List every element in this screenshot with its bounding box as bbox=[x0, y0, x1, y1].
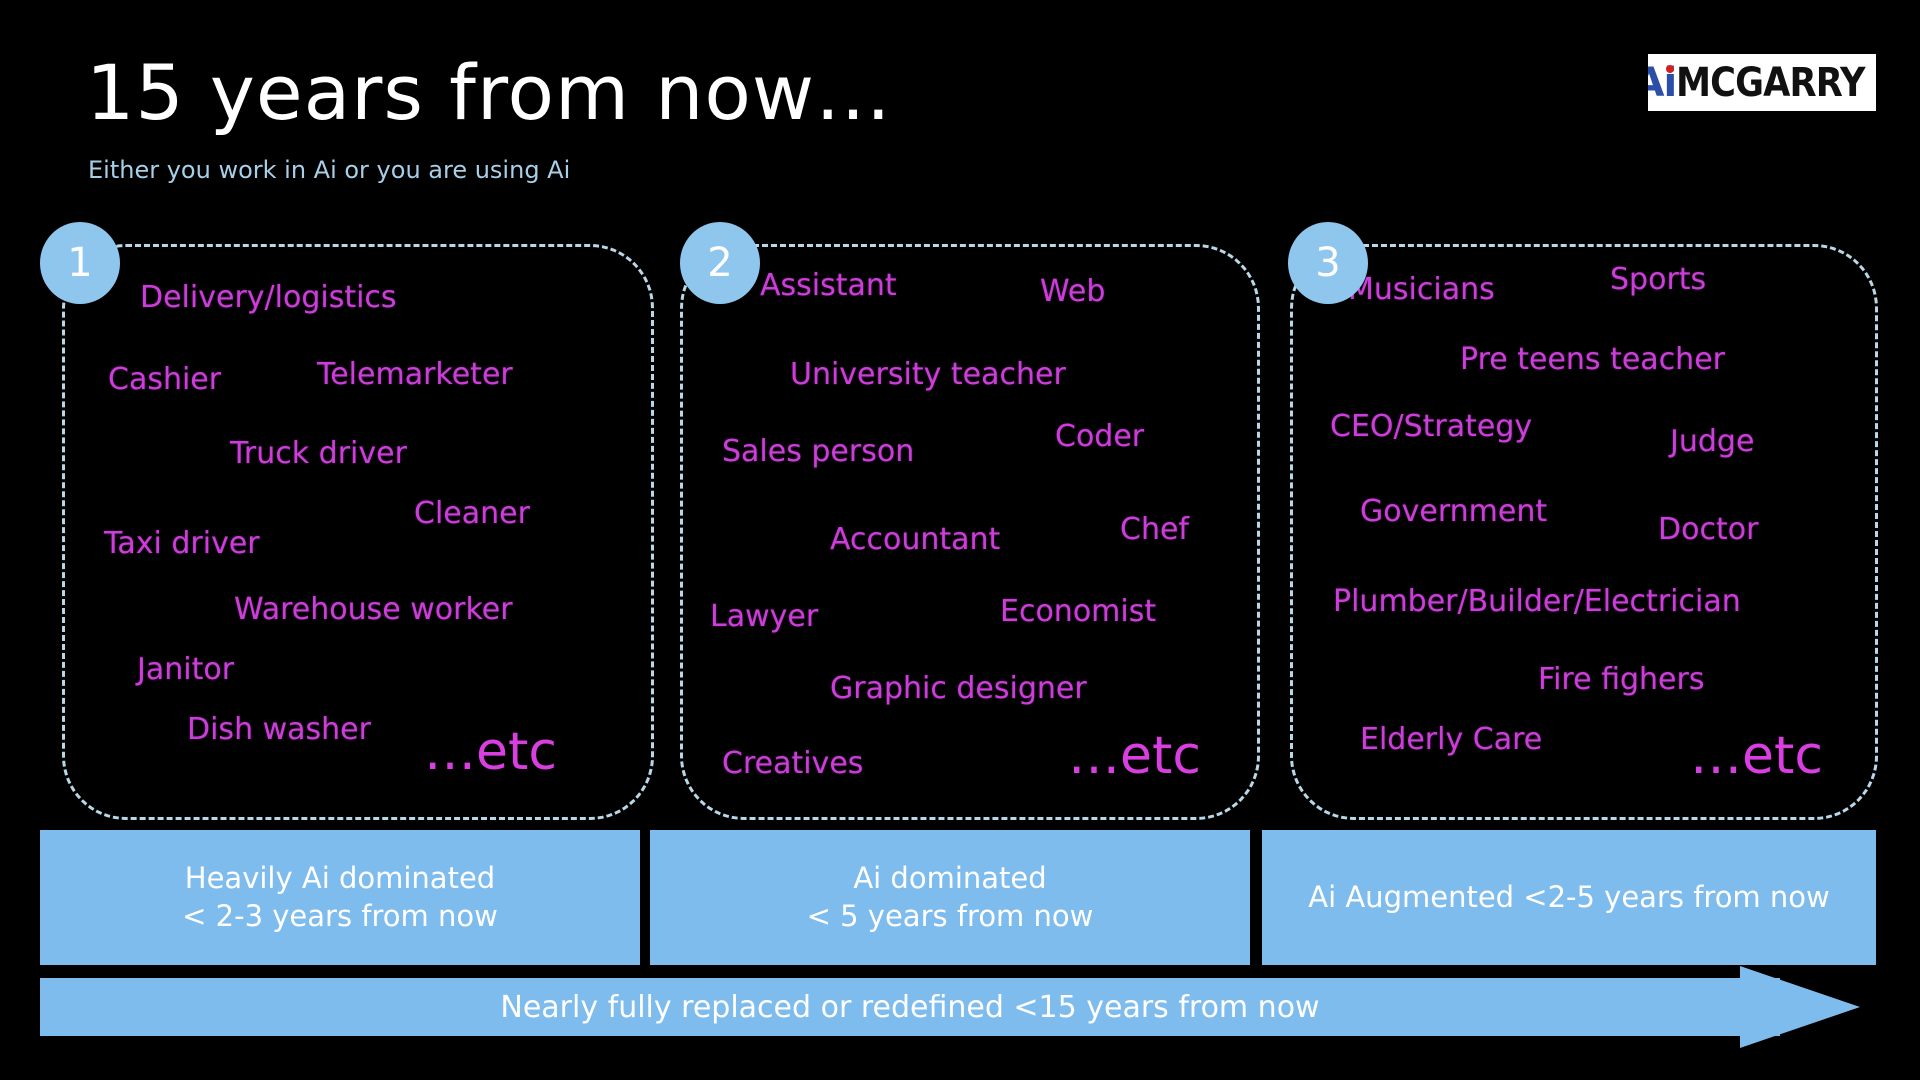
job-label: Cleaner bbox=[414, 496, 530, 531]
job-label: Pre teens teacher bbox=[1460, 342, 1725, 377]
job-label: Taxi driver bbox=[104, 526, 260, 561]
job-label: Doctor bbox=[1658, 512, 1758, 547]
job-label: University teacher bbox=[790, 357, 1066, 392]
phase-bar-1-label: Heavily Ai dominated < 2-3 years from no… bbox=[182, 860, 498, 934]
page-subtitle: Either you work in Ai or you are using A… bbox=[88, 156, 570, 184]
job-label: Government bbox=[1360, 494, 1547, 529]
job-label: CEO/Strategy bbox=[1330, 409, 1532, 444]
job-label: Musicians bbox=[1348, 272, 1495, 307]
category-badge-3: 3 bbox=[1288, 222, 1368, 304]
category-badge-2: 2 bbox=[680, 222, 760, 304]
timeline-arrow: Nearly fully replaced or redefined <15 y… bbox=[40, 978, 1880, 1060]
phase-bar-1: Heavily Ai dominated < 2-3 years from no… bbox=[40, 830, 640, 965]
logo-ai-mark: Ai bbox=[1648, 63, 1676, 103]
job-label: Sports bbox=[1610, 262, 1706, 297]
job-label: Telemarketer bbox=[317, 357, 513, 392]
job-label: Elderly Care bbox=[1360, 722, 1542, 757]
job-label: Truck driver bbox=[230, 436, 407, 471]
logo-red-dot-icon bbox=[1666, 65, 1674, 73]
slide-root: 15 years from now… Either you work in Ai… bbox=[0, 0, 1920, 1080]
job-label: Warehouse worker bbox=[234, 592, 513, 627]
job-label: Cashier bbox=[108, 362, 221, 397]
phase-bar-2: Ai dominated < 5 years from now bbox=[650, 830, 1250, 965]
job-label: Creatives bbox=[722, 746, 863, 781]
phase-bar-3: Ai Augmented <2-5 years from now bbox=[1262, 830, 1876, 965]
job-label: Accountant bbox=[830, 522, 1000, 557]
job-label: Graphic designer bbox=[830, 671, 1087, 706]
phase-bar-1-line2: < 2-3 years from now bbox=[182, 899, 498, 933]
job-label: Assistant bbox=[760, 268, 897, 303]
job-label: Lawyer bbox=[710, 599, 818, 634]
etc-label: …etc bbox=[1690, 726, 1823, 786]
job-label: Web bbox=[1040, 274, 1105, 309]
etc-label: …etc bbox=[1068, 726, 1201, 786]
job-label: Delivery/logistics bbox=[140, 280, 397, 315]
job-label: Janitor bbox=[137, 652, 234, 687]
job-label: Plumber/Builder/Electrician bbox=[1333, 584, 1741, 619]
job-label: Judge bbox=[1670, 424, 1754, 459]
logo-mcgarry-label: MCGARRY bbox=[1676, 63, 1865, 103]
phase-bar-2-label: Ai dominated < 5 years from now bbox=[807, 860, 1094, 934]
phase-bar-2-line1: Ai dominated bbox=[853, 861, 1046, 895]
phase-bar-3-label: Ai Augmented <2-5 years from now bbox=[1262, 879, 1876, 916]
job-label: Chef bbox=[1120, 512, 1189, 547]
page-title: 15 years from now… bbox=[86, 48, 892, 137]
timeline-arrow-label: Nearly fully replaced or redefined <15 y… bbox=[40, 978, 1780, 1036]
brand-logo: AiMCGARRY bbox=[1648, 54, 1876, 111]
phase-bar-2-line2: < 5 years from now bbox=[807, 899, 1094, 933]
job-label: Economist bbox=[1000, 594, 1156, 629]
etc-label: …etc bbox=[424, 722, 557, 782]
job-label: Fire fighers bbox=[1538, 662, 1704, 697]
job-label: Dish washer bbox=[187, 712, 371, 747]
phase-bar-1-line1: Heavily Ai dominated bbox=[185, 861, 495, 895]
category-badge-1: 1 bbox=[40, 222, 120, 304]
job-label: Sales person bbox=[722, 434, 914, 469]
brand-logo-text: AiMCGARRY bbox=[1648, 63, 1876, 103]
job-label: Coder bbox=[1055, 419, 1144, 454]
